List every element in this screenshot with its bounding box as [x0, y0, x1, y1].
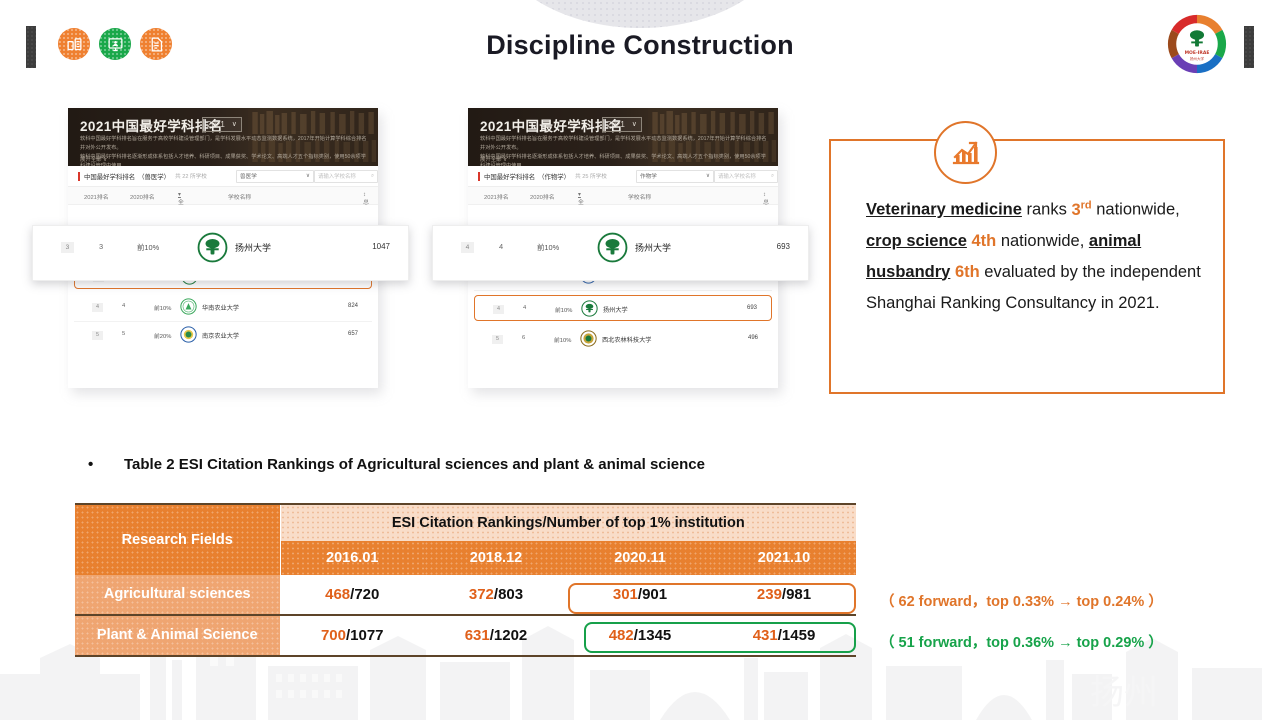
yangzhou-university-badge-icon [581, 300, 598, 317]
rank-2020: 4 [523, 305, 526, 311]
chevron-down-icon: ∨ [632, 118, 637, 131]
table-row[interactable]: 4 4 前10% 扬州大学 693 [433, 226, 808, 280]
school-search-input[interactable]: 请输入学校名称 ⌕ [714, 170, 778, 183]
callout-term-2: crop science [866, 232, 967, 250]
callout-text: Veterinary medicine ranks 3rd nationwide… [866, 190, 1206, 319]
table-row[interactable]: 3 3 前10% 扬州大学 1047 [33, 226, 408, 280]
table-row[interactable]: 5 6 前10% 西北农林科技大学 496 [474, 326, 772, 353]
year-selector-value: 2021 [607, 118, 625, 131]
filter-bar: 中国最好学科排名 （兽医学） 共 22 所学校 兽医学 ∨ 请输入学校名称 ⌕ [68, 166, 378, 187]
header-year-2020: 2020.11 [568, 541, 712, 575]
col-rank-2021: 2021排名 [484, 192, 509, 201]
table-row-plant-animal-science: Plant & Animal Science 700/1077 631/1202… [75, 615, 856, 656]
rank-2021: 5 [492, 335, 503, 344]
note-agricultural-sciences: （ 62 forward，top 0.33% → top 0.24% ） [880, 590, 1163, 611]
filter-bar: 中国最好学科排名 （作物学） 共 25 所学校 作物学 ∨ 请输入学校名称 ⌕ [468, 166, 778, 187]
total-score: 496 [748, 335, 758, 341]
col-score[interactable]: 总分 ↕ [763, 192, 766, 198]
table-row[interactable]: 4 4 前10% 华南农业大学 824 [74, 294, 372, 322]
total-score: 693 [777, 242, 790, 251]
total-score: 1047 [372, 242, 390, 251]
column-headers: 2021排名 2020排名 全部定义 ▾ 学校名称 总分 ↕ [468, 187, 778, 205]
cell-pa-2021: 431/1459 [712, 615, 856, 656]
percentile: 前20% [154, 331, 171, 340]
col-definition[interactable]: 全部定义 ▾ [578, 192, 581, 198]
featured-row-callout-veterinary[interactable]: 3 3 前10% 扬州大学 1047 [32, 225, 409, 281]
rank-2021: 5 [92, 331, 103, 340]
cell-ag-2018: 372/803 [424, 575, 568, 615]
school-search-input[interactable]: 请输入学校名称 ⌕ [314, 170, 378, 183]
university-name: 扬州大学 [635, 241, 671, 254]
yangzhou-university-badge-icon [597, 232, 628, 263]
total-score: 693 [747, 305, 757, 311]
col-school-name: 学校名称 [628, 192, 651, 201]
site-description: 软科中国最好学科排名旨在服务于高校学科建设管理部门，是学科发展水平动态监测数据系… [80, 135, 368, 166]
column-headers: 2021排名 2020排名 全部定义 ▾ 学校名称 总分 ↕ [68, 187, 378, 205]
search-icon: ⌕ [371, 173, 374, 180]
discipline-dropdown[interactable]: 作物学 ∨ [636, 170, 714, 183]
site-description-line2: 软科中国最好学科排名逐渐形成体系包括人才培养、科研项目、成果获奖、学术论文、高端… [480, 153, 768, 166]
top-arc-decoration [490, 0, 790, 28]
discipline-dropdown[interactable]: 兽医学 ∨ [236, 170, 314, 183]
rank-2021: 4 [493, 305, 504, 314]
header-year-2021: 2021.10 [712, 541, 856, 575]
rank-2021: 4 [461, 242, 474, 253]
col-score[interactable]: 总分 ↕ [363, 192, 366, 198]
growth-chart-icon [934, 121, 997, 184]
table-row[interactable]: 4 4 前10% 扬州大学 693 [474, 295, 772, 321]
header-esi-title: ESI Citation Rankings/Number of top 1% i… [280, 504, 856, 541]
school-search-placeholder: 请输入学校名称 [718, 172, 756, 180]
year-selector[interactable]: 2021 ∨ [602, 117, 642, 132]
filter-title: 中国最好学科排名 [484, 172, 535, 181]
callout-rank-1: 3rd [1071, 201, 1091, 219]
chevron-down-icon: ∨ [306, 173, 310, 179]
site-description-line1: 软科中国最好学科排名旨在服务于高校学科建设管理部门，是学科发展水平动态监测数据系… [480, 135, 768, 153]
site-header: 2021中国最好学科排名 2021 ∨ 软科中国最好学科排名旨在服务于高校学科建… [68, 108, 378, 166]
red-accent-tick [78, 172, 80, 181]
rank-2020: 4 [499, 242, 503, 251]
discipline-dropdown-value: 作物学 [640, 172, 657, 180]
page-title: Discipline Construction [0, 30, 1280, 61]
site-description-line2: 软科中国最好学科排名逐渐形成体系包括人才培养、科研项目、成果获奖、学术论文、高端… [80, 153, 368, 166]
cell-pa-2020: 482/1345 [568, 615, 712, 656]
note-plant-animal-science: （ 51 forward，top 0.36% → top 0.29% ） [880, 631, 1163, 652]
svg-text:扬州: 扬州 [1090, 673, 1158, 713]
cell-pa-2016: 700/1077 [280, 615, 424, 656]
filter-title: 中国最好学科排名 [84, 172, 135, 181]
bullet-dot-icon: • [88, 456, 124, 473]
yangzhou-university-badge-icon [197, 232, 228, 263]
filter-discipline: （兽医学） [138, 172, 170, 181]
nwafu-badge-icon [580, 330, 597, 347]
scau-badge-icon [180, 298, 197, 315]
header-year-2016: 2016.01 [280, 541, 424, 575]
table-caption-text: Table 2 ESI Citation Rankings of Agricul… [124, 456, 705, 473]
filter-school-count: 共 25 所学校 [575, 172, 607, 180]
callout-rank-2: 4th [967, 232, 996, 250]
esi-citation-table: Research Fields ESI Citation Rankings/Nu… [75, 503, 856, 657]
expand-all-link[interactable]: 展开全部 ∨ [480, 155, 507, 163]
site-description: 软科中国最好学科排名旨在服务于高校学科建设管理部门，是学科发展水平动态监测数据系… [480, 135, 768, 166]
filter-discipline: （作物学） [538, 172, 570, 181]
university-name: 华南农业大学 [202, 303, 239, 312]
search-icon: ⌕ [771, 173, 774, 180]
svg-text:扬州大学: 扬州大学 [1190, 56, 1205, 61]
cell-ag-2020: 301/901 [568, 575, 712, 615]
header-research-fields: Research Fields [75, 504, 280, 575]
callout-plain-2: nationwide, [1092, 201, 1180, 219]
university-name: 南京农业大学 [202, 331, 239, 340]
table-header-row-title: Research Fields ESI Citation Rankings/Nu… [75, 504, 856, 541]
table-row-agricultural-sciences: Agricultural sciences 468/720 372/803 30… [75, 575, 856, 615]
rank-2020: 3 [99, 242, 103, 251]
cell-ag-2016: 468/720 [280, 575, 424, 615]
col-rank-2020: 2020排名 [530, 192, 555, 201]
total-score: 657 [348, 331, 358, 337]
col-school-name: 学校名称 [228, 192, 251, 201]
percentile: 前10% [537, 242, 559, 253]
callout-rank-3: 6th [950, 263, 979, 281]
university-name: 西北农林科技大学 [602, 335, 652, 344]
rank-2020: 5 [122, 331, 125, 337]
percentile: 前10% [555, 305, 572, 314]
table-row[interactable]: 5 5 前20% 南京农业大学 657 [74, 322, 372, 349]
percentile: 前10% [554, 335, 571, 344]
chevron-down-icon: ∨ [232, 118, 237, 131]
cell-ag-2021: 239/981 [712, 575, 856, 615]
chevron-down-icon: ∨ [706, 173, 710, 179]
total-score: 824 [348, 303, 358, 309]
callout-plain-3: nationwide, [996, 232, 1089, 250]
callout-term-1: Veterinary medicine [866, 201, 1022, 219]
university-name: 扬州大学 [603, 305, 628, 314]
col-rank-2020: 2020排名 [130, 192, 155, 201]
institution-logo: MOE-IRAE 扬州大学 [1165, 12, 1229, 76]
percentile: 前10% [154, 303, 171, 312]
site-description-line1: 软科中国最好学科排名旨在服务于高校学科建设管理部门，是学科发展水平动态监测数据系… [80, 135, 368, 153]
table-caption: •Table 2 ESI Citation Rankings of Agricu… [88, 456, 705, 473]
year-selector[interactable]: 2021 ∨ [202, 117, 242, 132]
callout-plain-1: ranks [1022, 201, 1072, 219]
school-search-placeholder: 请输入学校名称 [318, 172, 356, 180]
header-year-2018: 2018.12 [424, 541, 568, 575]
year-selector-value: 2021 [207, 118, 225, 131]
svg-text:MOE-IRAE: MOE-IRAE [1185, 50, 1210, 56]
site-header: 2021中国最好学科排名 2021 ∨ 软科中国最好学科排名旨在服务于高校学科建… [468, 108, 778, 166]
row-label-agricultural-sciences: Agricultural sciences [75, 575, 280, 615]
rank-2021: 3 [61, 242, 74, 253]
col-definition[interactable]: 全部定义 ▾ [178, 192, 181, 198]
col-rank-2021: 2021排名 [84, 192, 109, 201]
rank-2020: 6 [522, 335, 525, 341]
row-label-plant-animal-science: Plant & Animal Science [75, 615, 280, 656]
university-name: 扬州大学 [235, 241, 271, 254]
rank-2021: 4 [92, 303, 103, 312]
cell-pa-2018: 631/1202 [424, 615, 568, 656]
discipline-dropdown-value: 兽医学 [240, 172, 257, 180]
expand-all-link[interactable]: 展开全部 ∨ [80, 155, 107, 163]
njau-badge-icon [180, 326, 197, 343]
red-accent-tick [478, 172, 480, 181]
percentile: 前10% [137, 242, 159, 253]
filter-school-count: 共 22 所学校 [175, 172, 207, 180]
rank-2020: 4 [122, 303, 125, 309]
featured-row-callout-crop-science[interactable]: 4 4 前10% 扬州大学 693 [432, 225, 809, 281]
